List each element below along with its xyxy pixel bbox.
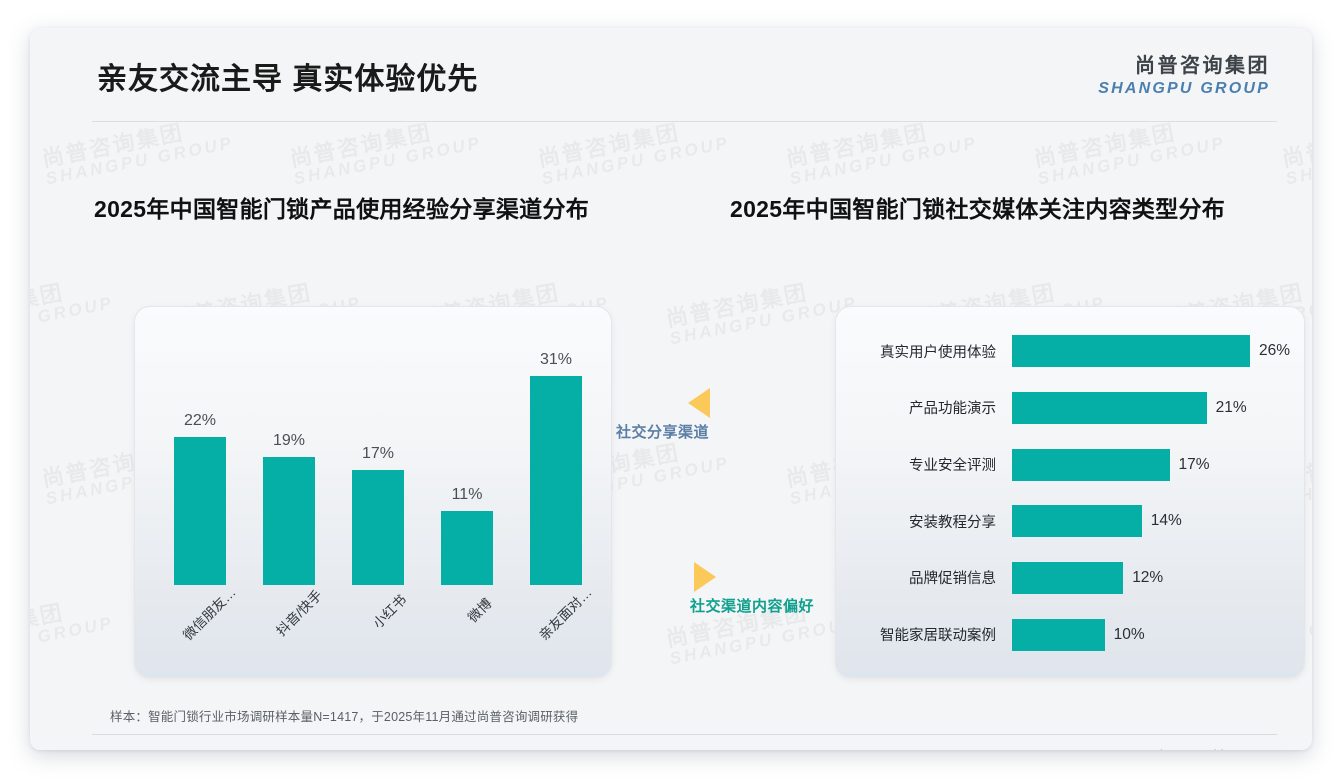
watermark-text: 尚普咨询集团SHANGPU GROUP (30, 592, 115, 669)
column-bar[interactable] (263, 457, 315, 585)
bar-fill[interactable] (1012, 619, 1105, 651)
watermark-text: 尚普咨询集团SHANGPU GROUP (30, 272, 115, 349)
column-value-label: 22% (184, 412, 216, 430)
column-category-label: 微博 (462, 593, 495, 626)
bar-value-label: 26% (1259, 342, 1290, 360)
bar-row[interactable]: 专业安全评测17% (852, 448, 1290, 482)
bar-row[interactable]: 真实用户使用体验26% (852, 334, 1290, 368)
bar-row[interactable]: 产品功能演示21% (852, 391, 1290, 425)
column-bar[interactable] (441, 511, 493, 585)
bar-track: 10% (1012, 619, 1290, 651)
bar-row[interactable]: 智能家居联动案例10% (852, 618, 1290, 652)
bar-fill[interactable] (1012, 505, 1142, 537)
column-bar[interactable] (352, 470, 404, 585)
bar-category-label: 专业安全评测 (852, 454, 1012, 475)
watermark-text: 尚普咨询集团SHANGPU GROUP (1032, 112, 1227, 189)
bar-row[interactable]: 品牌促销信息12% (852, 561, 1290, 595)
watermark-text: 尚普咨询集团SHANGPU GROUP (40, 112, 235, 189)
bar-fill[interactable] (1012, 392, 1207, 424)
bar-chart-plot: 真实用户使用体验26%产品功能演示21%专业安全评测17%安装教程分享14%品牌… (852, 323, 1290, 663)
brand-name-en: SHANGPU GROUP (1098, 79, 1270, 99)
bar-category-label: 真实用户使用体验 (852, 341, 1012, 362)
brand-logo: 尚普咨询集团 SHANGPU GROUP (1098, 54, 1270, 99)
header-divider (92, 121, 1277, 122)
bar-row[interactable]: 安装教程分享14% (852, 504, 1290, 538)
column-bar[interactable] (174, 437, 226, 585)
column-category-label: 抖音/快手 (271, 585, 326, 640)
bar-fill[interactable] (1012, 335, 1250, 367)
sample-note: 样本：智能门锁行业市场调研样本量N=1417，于2025年11月通过尚普咨询调研… (110, 706, 655, 725)
annotation-top-label: 社交分享渠道 (616, 421, 710, 442)
bar-value-label: 17% (1179, 456, 1210, 474)
bar-fill[interactable] (1012, 449, 1170, 481)
bar-track: 26% (1012, 335, 1290, 367)
column-value-label: 31% (540, 351, 572, 369)
column-category-label: 亲友面对… (533, 582, 595, 644)
bar-track: 17% (1012, 449, 1290, 481)
brand-name-cn: 尚普咨询集团 (1098, 54, 1270, 79)
bar-category-label: 安装教程分享 (852, 511, 1012, 532)
annotation-bottom-label: 社交渠道内容偏好 (690, 595, 814, 616)
triangle-right-icon (694, 562, 716, 592)
annotation-content-preference: 社交渠道内容偏好 (690, 562, 814, 616)
bar-track: 12% (1012, 562, 1290, 594)
column-value-label: 19% (273, 432, 305, 450)
chart-title-right: 2025年中国智能门锁社交媒体关注内容类型分布 (730, 190, 1225, 224)
page-title: 亲友交流主导 真实体验优先 (97, 54, 478, 98)
column-item[interactable]: 31%亲友面对… (519, 329, 593, 585)
slide-header: 亲友交流主导 真实体验优先 尚普咨询集团 SHANGPU GROUP (30, 28, 1312, 122)
bar-track: 21% (1012, 392, 1290, 424)
bar-value-label: 21% (1216, 399, 1247, 417)
bar-category-label: 产品功能演示 (852, 397, 1012, 418)
annotation-social-share-channel: 社交分享渠道 (616, 388, 710, 442)
chart-card-right: 真实用户使用体验26%产品功能演示21%专业安全评测17%安装教程分享14%品牌… (835, 306, 1305, 678)
bar-fill[interactable] (1012, 562, 1123, 594)
column-item[interactable]: 17%小红书 (341, 329, 415, 585)
column-value-label: 11% (452, 486, 483, 504)
watermark-text: 尚普咨询集团SHANGPU GROUP (784, 112, 979, 189)
bar-value-label: 12% (1132, 569, 1163, 587)
column-bar[interactable] (530, 376, 582, 585)
column-value-label: 17% (362, 445, 394, 463)
column-item[interactable]: 19%抖音/快手 (252, 329, 326, 585)
watermark-text: 尚普咨询集团SHANGPU GROUP (1280, 112, 1312, 189)
bar-category-label: 品牌促销信息 (852, 567, 1012, 588)
bar-track: 14% (1012, 505, 1290, 537)
bar-value-label: 10% (1114, 626, 1145, 644)
watermark-text: 尚普咨询集团SHANGPU GROUP (288, 112, 483, 189)
column-item[interactable]: 11%微博 (430, 329, 504, 585)
column-chart-plot: 22%微信朋友…19%抖音/快手17%小红书11%微博31%亲友面对… (163, 329, 593, 585)
triangle-left-icon (688, 388, 710, 418)
column-category-label: 小红书 (367, 589, 410, 632)
bar-category-label: 智能家居联动案例 (852, 624, 1012, 645)
footer-website[interactable]: www.shangpu-china.com (1123, 748, 1266, 750)
bar-value-label: 14% (1151, 512, 1182, 530)
column-category-label: 微信朋友… (177, 582, 239, 644)
chart-title-left: 2025年中国智能门锁产品使用经验分享渠道分布 (94, 190, 589, 224)
chart-card-left: 22%微信朋友…19%抖音/快手17%小红书11%微博31%亲友面对… (134, 306, 612, 678)
watermark-text: 尚普咨询集团SHANGPU GROUP (536, 112, 731, 189)
slide-footer: ©2026.1 SHANGPU GROUP www.shangpu-china.… (30, 734, 1312, 750)
column-item[interactable]: 22%微信朋友… (163, 329, 237, 585)
slide-canvas: 尚普咨询集团SHANGPU GROUP尚普咨询集团SHANGPU GROUP尚普… (30, 28, 1312, 750)
footer-copyright: ©2026.1 SHANGPU GROUP (78, 748, 248, 750)
watermark-text: 尚普咨询集团SHANGPU GROUP (664, 272, 859, 349)
